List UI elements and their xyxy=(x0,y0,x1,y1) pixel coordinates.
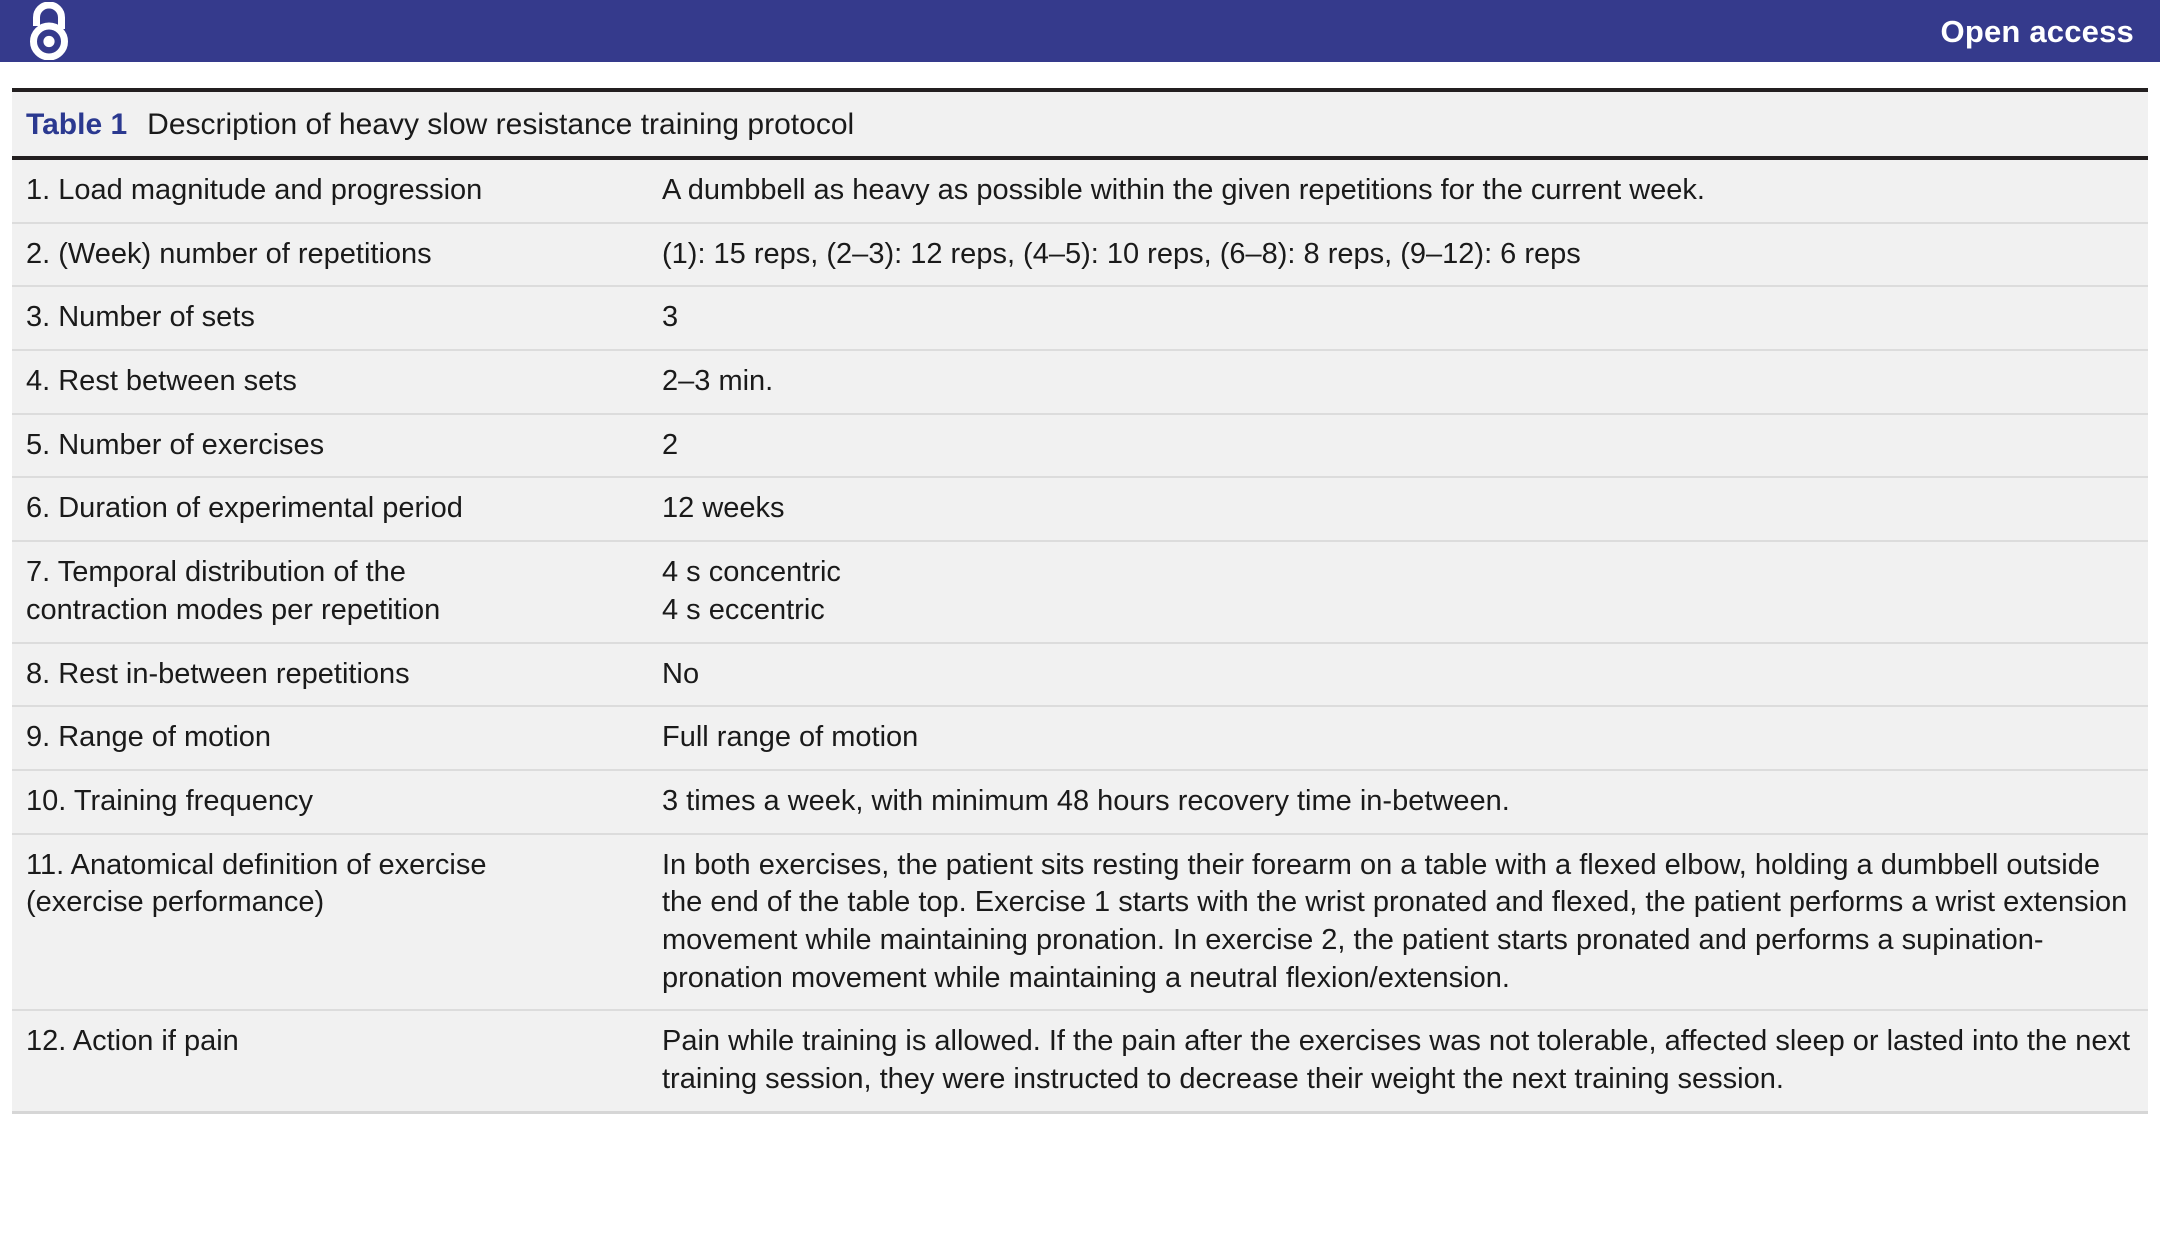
row-value: (1): 15 reps, (2–3): 12 reps, (4–5): 10 … xyxy=(648,223,2148,287)
table-row: 10. Training frequency 3 times a week, w… xyxy=(12,770,2148,834)
row-label: 1. Load magnitude and progression xyxy=(12,158,648,223)
table-caption: Table 1Description of heavy slow resista… xyxy=(12,88,2148,156)
table-caption-text: Description of heavy slow resistance tra… xyxy=(147,108,854,141)
row-label-line: 7. Temporal distribution of the xyxy=(26,554,634,592)
row-value: No xyxy=(648,643,2148,707)
row-label: 11. Anatomical definition of exercise (e… xyxy=(12,834,648,1011)
row-value: 12 weeks xyxy=(648,477,2148,541)
table-body: 1. Load magnitude and progression A dumb… xyxy=(12,158,2148,1112)
table-row: 2. (Week) number of repetitions (1): 15 … xyxy=(12,223,2148,287)
row-label: 9. Range of motion xyxy=(12,706,648,770)
row-label: 7. Temporal distribution of the contract… xyxy=(12,541,648,642)
row-label: 3. Number of sets xyxy=(12,286,648,350)
row-value: 3 xyxy=(648,286,2148,350)
row-label: 10. Training frequency xyxy=(12,770,648,834)
row-value: 2 xyxy=(648,414,2148,478)
hsr-protocol-table: Table 1Description of heavy slow resista… xyxy=(12,88,2148,1114)
table-row: 4. Rest between sets 2–3 min. xyxy=(12,350,2148,414)
row-value: A dumbbell as heavy as possible within t… xyxy=(648,158,2148,223)
row-value: 4 s concentric 4 s eccentric xyxy=(648,541,2148,642)
table-row: 8. Rest in-between repetitions No xyxy=(12,643,2148,707)
row-value: Pain while training is allowed. If the p… xyxy=(648,1010,2148,1112)
table-caption-label: Table 1 xyxy=(26,108,127,141)
table-container: Table 1Description of heavy slow resista… xyxy=(12,88,2148,1114)
row-label-line: contraction modes per repetition xyxy=(26,592,634,630)
open-access-padlock-icon xyxy=(26,2,72,60)
row-label: 6. Duration of experimental period xyxy=(12,477,648,541)
table-row: 1. Load magnitude and progression A dumb… xyxy=(12,158,2148,223)
row-value-line: 4 s eccentric xyxy=(662,592,2134,630)
row-value-line: 4 s concentric xyxy=(662,554,2134,592)
row-label: 12. Action if pain xyxy=(12,1010,648,1112)
row-label-line: (exercise performance) xyxy=(26,884,634,922)
row-label: 8. Rest in-between repetitions xyxy=(12,643,648,707)
table-row: 3. Number of sets 3 xyxy=(12,286,2148,350)
table-row: 9. Range of motion Full range of motion xyxy=(12,706,2148,770)
row-label: 5. Number of exercises xyxy=(12,414,648,478)
table-row: 7. Temporal distribution of the contract… xyxy=(12,541,2148,642)
open-access-label: Open access xyxy=(1941,16,2134,47)
open-access-banner: Open access xyxy=(0,0,2160,62)
row-value: 2–3 min. xyxy=(648,350,2148,414)
table-row: 5. Number of exercises 2 xyxy=(12,414,2148,478)
row-value: Full range of motion xyxy=(648,706,2148,770)
table-row: 11. Anatomical definition of exercise (e… xyxy=(12,834,2148,1011)
row-value: 3 times a week, with minimum 48 hours re… xyxy=(648,770,2148,834)
table-row: 6. Duration of experimental period 12 we… xyxy=(12,477,2148,541)
table-row: 12. Action if pain Pain while training i… xyxy=(12,1010,2148,1112)
row-label: 2. (Week) number of repetitions xyxy=(12,223,648,287)
row-value: In both exercises, the patient sits rest… xyxy=(648,834,2148,1011)
row-label: 4. Rest between sets xyxy=(12,350,648,414)
row-label-line: 11. Anatomical definition of exercise xyxy=(26,847,634,885)
